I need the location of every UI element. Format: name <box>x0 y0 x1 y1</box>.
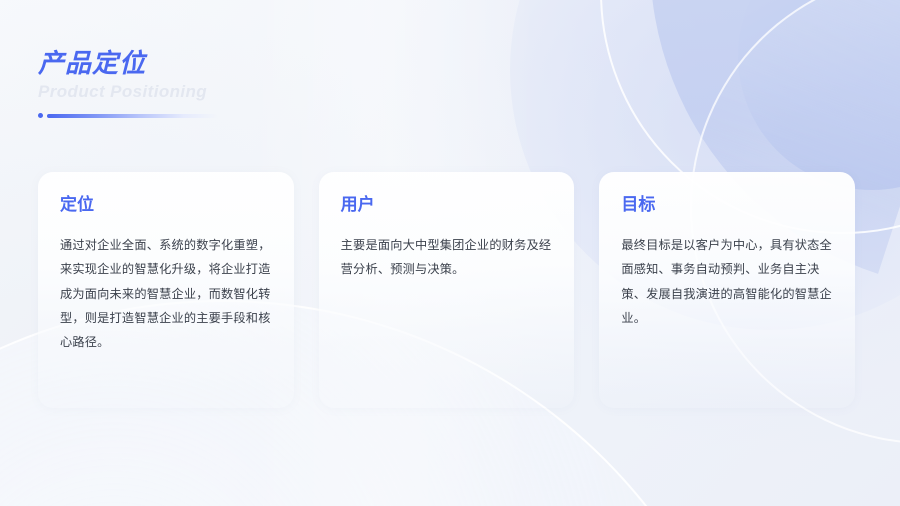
page-title: 产品定位 <box>38 50 207 76</box>
header-gradient-rule <box>47 114 218 118</box>
card-body-text: 通过对企业全面、系统的数字化重塑，来实现企业的智慧化升级，将企业打造成为面向未来… <box>60 233 272 355</box>
card-title: 用户 <box>341 196 553 215</box>
header-dot-marker <box>38 113 43 118</box>
card-positioning: 定位 通过对企业全面、系统的数字化重塑，来实现企业的智慧化升级，将企业打造成为面… <box>38 172 294 408</box>
card-row: 定位 通过对企业全面、系统的数字化重塑，来实现企业的智慧化升级，将企业打造成为面… <box>38 172 855 408</box>
header-underline <box>38 113 218 118</box>
page-subtitle: Product Positioning <box>38 83 207 100</box>
decor-blue-disc <box>738 0 900 190</box>
slide-canvas: 产品定位 Product Positioning 定位 通过对企业全面、系统的数… <box>0 0 900 506</box>
card-body-text: 最终目标是以客户为中心，具有状态全面感知、事务自动预判、业务自主决策、发展自我演… <box>621 233 833 331</box>
card-title: 定位 <box>60 196 272 215</box>
card-goal: 目标 最终目标是以客户为中心，具有状态全面感知、事务自动预判、业务自主决策、发展… <box>599 172 855 408</box>
card-body-text: 主要是面向大中型集团企业的财务及经营分析、预测与决策。 <box>341 233 553 282</box>
card-users: 用户 主要是面向大中型集团企业的财务及经营分析、预测与决策。 <box>319 172 575 408</box>
slide-header: 产品定位 Product Positioning <box>38 50 207 100</box>
card-title: 目标 <box>621 196 833 215</box>
